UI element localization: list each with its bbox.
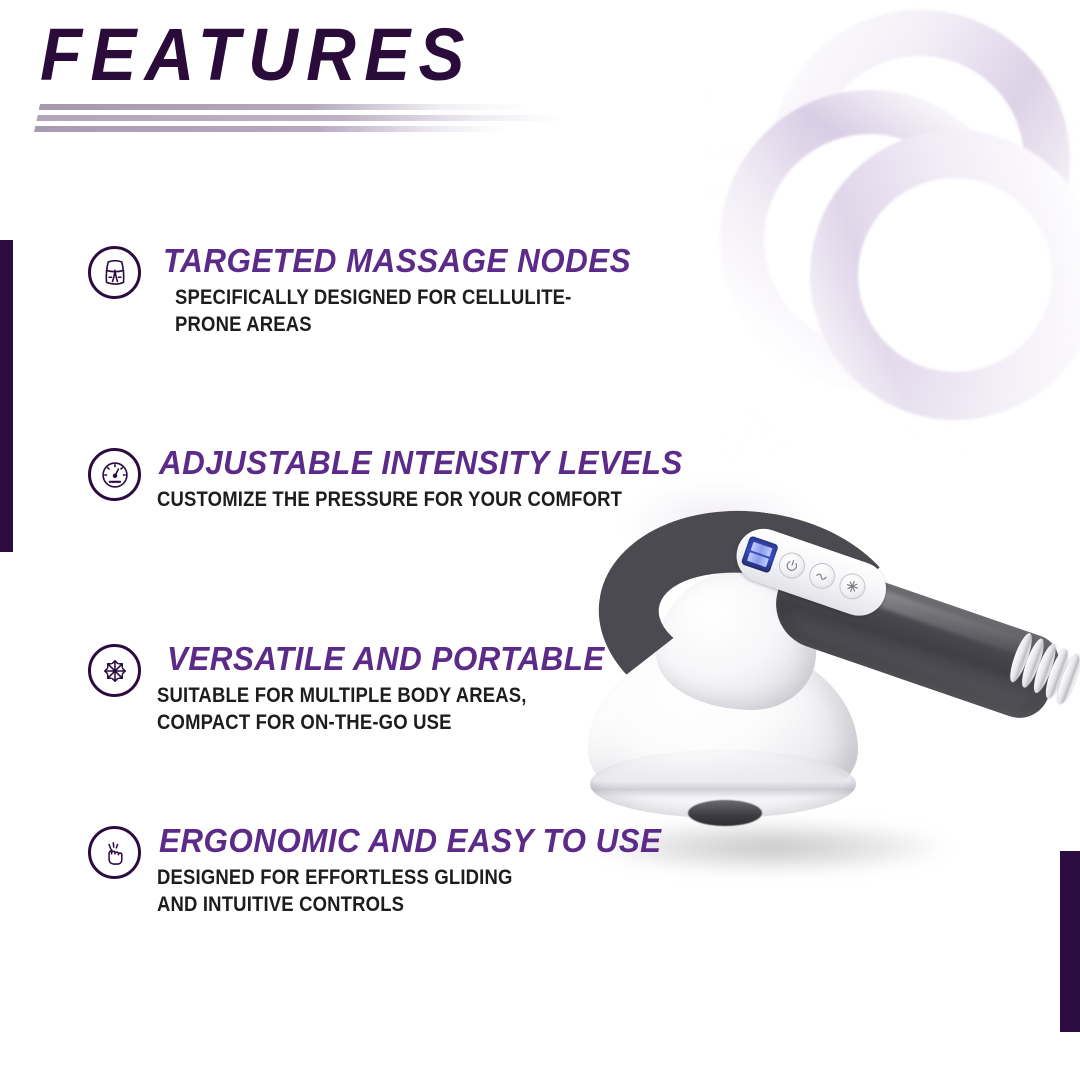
page-header: FEATURES [40, 18, 680, 134]
title-rule-1 [39, 104, 530, 110]
gauge-icon [88, 448, 141, 501]
features-page: FEATURES [0, 0, 1080, 1080]
product-base-foot [688, 800, 762, 826]
feature-heading: ADJUSTABLE INTENSITY LEVELS [159, 446, 683, 481]
feature-subtitle: CUSTOMIZE THE PRESSURE FOR YOUR COMFORT [157, 487, 644, 514]
product-lcd-display [741, 535, 779, 573]
title-rule-3 [34, 126, 505, 132]
feature-subtitle: SUITABLE FOR MULTIPLE BODY AREAS, COMPAC… [157, 683, 571, 737]
feature-heading: ERGONOMIC AND EASY TO USE [159, 824, 662, 859]
feature-item-versatile-and-portable: VERSATILE AND PORTABLE SUITABLE FOR MULT… [88, 642, 628, 736]
feature-text-block: ADJUSTABLE INTENSITY LEVELS CUSTOMIZE TH… [159, 446, 710, 514]
heat-icon[interactable] [836, 570, 869, 603]
feature-subtitle: SPECIFICALLY DESIGNED FOR CELLULITE-PRON… [175, 285, 637, 339]
feature-heading: TARGETED MASSAGE NODES [163, 244, 673, 279]
left-accent-bar [0, 240, 13, 552]
feature-item-ergonomic-and-easy-to-use: ERGONOMIC AND EASY TO USE DESIGNED FOR E… [88, 824, 688, 918]
title-underline-rules [34, 104, 680, 134]
mode-icon[interactable] [806, 559, 839, 592]
swirl-soft-fade [700, 0, 1080, 460]
swirl-ring-a [731, 0, 1080, 349]
body-contour-icon [88, 246, 141, 299]
feature-text-block: ERGONOMIC AND EASY TO USE DESIGNED FOR E… [159, 824, 688, 918]
feature-text-block: TARGETED MASSAGE NODES SPECIFICALLY DESI… [163, 244, 700, 338]
feature-subtitle: DESIGNED FOR EFFORTLESS GLIDING AND INTU… [157, 865, 624, 919]
multi-direction-arrows-icon [88, 644, 141, 697]
feature-item-adjustable-intensity-levels: ADJUSTABLE INTENSITY LEVELS CUSTOMIZE TH… [88, 446, 710, 514]
feature-heading: VERSATILE AND PORTABLE [167, 642, 605, 677]
hand-grip-icon [88, 826, 141, 879]
title-rule-2 [36, 115, 562, 121]
power-icon[interactable] [775, 549, 808, 582]
page-title: FEATURES [40, 18, 635, 92]
feature-text-block: VERSATILE AND PORTABLE SUITABLE FOR MULT… [159, 642, 628, 736]
swirl-ring-b [672, 42, 1068, 438]
abstract-swirl-graphic [700, 0, 1080, 460]
feature-item-targeted-massage-nodes: TARGETED MASSAGE NODES SPECIFICALLY DESI… [88, 244, 700, 338]
swirl-ring-c [750, 70, 1080, 480]
